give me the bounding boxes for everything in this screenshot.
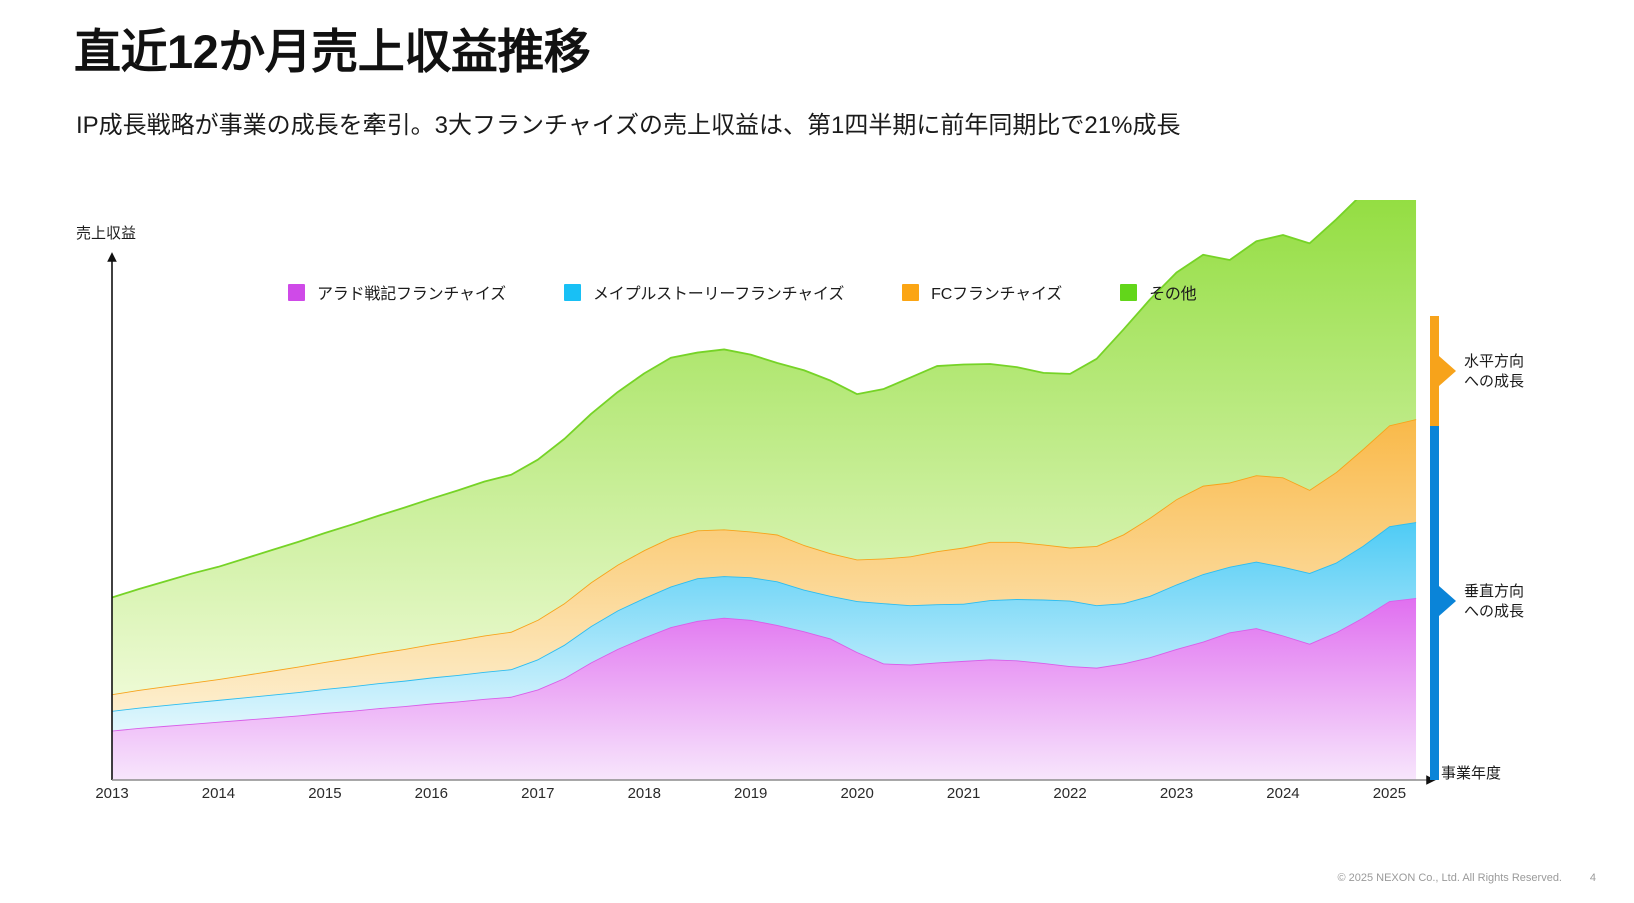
x-axis-title: 事業年度 [1441,762,1501,783]
x-tick-label: 2024 [1266,785,1299,802]
legend-swatch-icon [564,284,581,301]
x-tick-label: 2022 [1053,785,1086,802]
x-tick-label: 2015 [308,785,341,802]
x-tick-label: 2025 [1373,785,1406,802]
x-axis-tick-labels: 2013201420152016201720182019202020212022… [0,785,1634,813]
legend-item-fc[interactable]: FCフランチャイズ [902,280,1062,304]
legend-swatch-icon [1120,284,1137,301]
x-tick-label: 2021 [947,785,980,802]
x-tick-label: 2019 [734,785,767,802]
x-tick-label: 2017 [521,785,554,802]
x-tick-label: 2013 [95,785,128,802]
copyright-text: © 2025 NEXON Co., Ltd. All Rights Reserv… [1337,872,1562,884]
legend-swatch-icon [902,284,919,301]
chart-legend: アラド戦記フランチャイズ メイプルストーリーフランチャイズ FCフランチャイズ … [288,280,1196,304]
annotation-line: への成長 [1464,372,1524,392]
revenue-area-chart: 売上収益 アラド戦記フランチャイズ メイプルストーリーフランチャイズ FCフラン… [0,200,1634,840]
x-tick-label: 2014 [202,785,235,802]
annotation-line: への成長 [1464,602,1524,622]
horizontal-growth-bracket [1430,316,1456,426]
x-tick-label: 2020 [840,785,873,802]
page-number: 4 [1590,872,1596,884]
legend-item-label: アラド戦記フランチャイズ [317,280,506,304]
legend-item-label: メイプルストーリーフランチャイズ [593,280,844,304]
x-tick-label: 2016 [415,785,448,802]
x-tick-label: 2018 [628,785,661,802]
annotation-vertical-growth: 垂直方向 への成長 [1464,582,1524,623]
legend-item-other[interactable]: その他 [1120,280,1196,304]
page-subtitle: IP成長戦略が事業の成長を牽引。3大フランチャイズの売上収益は、第1四半期に前年… [76,110,1180,141]
annotation-line: 垂直方向 [1464,582,1524,602]
x-tick-label: 2023 [1160,785,1193,802]
annotation-horizontal-growth: 水平方向 への成長 [1464,352,1524,393]
legend-item-arad[interactable]: アラド戦記フランチャイズ [288,280,506,304]
slide-footer: © 2025 NEXON Co., Ltd. All Rights Reserv… [0,872,1634,892]
legend-item-label: FCフランチャイズ [931,280,1062,304]
vertical-growth-bracket [1430,426,1456,780]
legend-item-maplestory[interactable]: メイプルストーリーフランチャイズ [564,280,844,304]
annotation-line: 水平方向 [1464,352,1524,372]
page-title: 直近12か月売上収益推移 [74,27,590,76]
legend-item-label: その他 [1149,280,1196,304]
legend-swatch-icon [288,284,305,301]
